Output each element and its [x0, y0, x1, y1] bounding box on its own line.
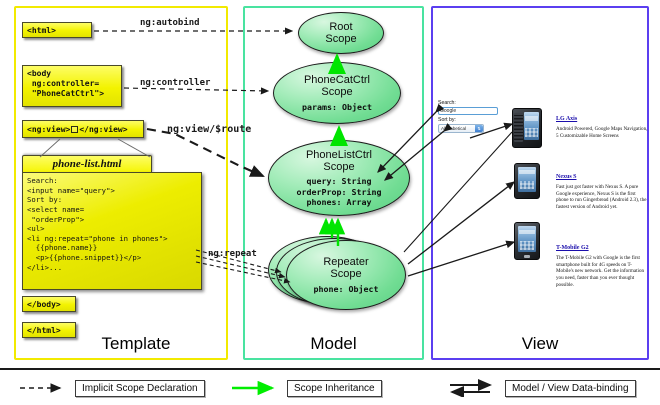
- phonecatctrl-scope-title: PhoneCatCtrl Scope: [304, 74, 370, 99]
- phone-snippet: Fast just got faster with Nexus S. A pur…: [556, 184, 648, 211]
- list-item: T-Mobile G2 The T-Mobile G2 with Google …: [556, 236, 648, 289]
- template-box-body-open: <body ng:controller= "PhoneCatCtrl">: [22, 65, 122, 107]
- phonelistctrl-scope-title: PhoneListCtrl Scope: [306, 149, 372, 174]
- legend: Implicit Scope Declaration Scope Inherit…: [0, 368, 660, 405]
- legend-item-implicit-scope-declaration: Implicit Scope Declaration: [18, 379, 205, 397]
- phone-thumbnail-lg-axis: [512, 108, 542, 148]
- template-box-html-close: </html>: [22, 322, 76, 338]
- search-label: Search:: [438, 100, 500, 107]
- phonecatctrl-scope-props: params: Object: [302, 102, 372, 112]
- phone-thumbnail-nexus-s: [514, 163, 540, 199]
- phonecatctrl-scope: PhoneCatCtrl Scope params: Object: [273, 62, 401, 124]
- template-box-ng-view: <ng:view></ng:view>: [22, 120, 144, 138]
- ng-view-close-tag: </ng:view>: [79, 125, 127, 134]
- ng-view-open-tag: <ng:view>: [27, 125, 70, 134]
- phonelistctrl-scope-props: query: String orderProp: String phones: …: [297, 176, 382, 207]
- template-box-body-close: </body>: [22, 296, 76, 312]
- phonelistctrl-scope: PhoneListCtrl Scope query: String orderP…: [268, 140, 410, 216]
- repeater-scope-stack: Repeater Scope phone: Object: [268, 232, 408, 312]
- double-arrow-icon: [448, 379, 500, 397]
- ng-view-placeholder-icon: [71, 126, 78, 133]
- wire-label-ng-view-route: ng:view/$route: [167, 124, 251, 135]
- callout-title: phone-list.html: [22, 155, 152, 173]
- template-box-html-open: <html>: [22, 22, 92, 38]
- phone-name-link[interactable]: T-Mobile G2: [556, 245, 589, 253]
- legend-label-model-view-data-binding: Model / View Data-binding: [505, 380, 636, 397]
- phone-keyboard-icon: [514, 113, 522, 143]
- chevron-updown-icon: ⇅: [475, 125, 483, 132]
- phone-snippet: Android Powered, Google Maps Navigation,…: [556, 126, 648, 140]
- phone-device-icon: [514, 222, 540, 260]
- root-scope: Root Scope: [298, 12, 384, 54]
- root-scope-title: Root Scope: [325, 21, 356, 46]
- panel-label-model: Model: [245, 334, 422, 354]
- callout-code: Search: <input name="query"> Sort by: <s…: [22, 172, 202, 290]
- green-arrow-icon: [230, 379, 282, 397]
- phone-home-button-icon: [524, 255, 530, 258]
- repeater-scope-title: Repeater Scope: [323, 256, 368, 281]
- legend-item-model-view-data-binding: Model / View Data-binding: [448, 379, 636, 397]
- legend-label-scope-inheritance: Scope Inheritance: [287, 380, 382, 397]
- repeater-scope: Repeater Scope phone: Object: [286, 240, 406, 310]
- panel-label-view: View: [433, 334, 647, 354]
- wire-label-ng-controller: ng:controller: [140, 78, 210, 88]
- phone-screen-icon: [518, 167, 536, 191]
- phone-name-link[interactable]: Nexus S: [556, 174, 577, 182]
- legend-label-implicit-scope-declaration: Implicit Scope Declaration: [75, 380, 205, 397]
- angularjs-architecture-diagram: Template Model View: [0, 0, 660, 405]
- sort-by-select[interactable]: Alphabetical⇅: [438, 124, 484, 133]
- sort-label: Sort by:: [438, 117, 500, 124]
- list-item: LG Axis Android Powered, Google Maps Nav…: [556, 107, 648, 139]
- view-search-form: Search: Google Sort by: Alphabetical⇅: [438, 100, 500, 133]
- wire-label-ng-repeat: ng:repeat: [208, 249, 257, 259]
- phone-device-icon: [514, 163, 540, 199]
- phone-screen-icon: [524, 112, 540, 139]
- phone-name-link[interactable]: LG Axis: [556, 116, 577, 124]
- phone-snippet: The T-Mobile G2 with Google is the first…: [556, 255, 648, 289]
- phone-thumbnail-t-mobile-g2: [514, 222, 540, 260]
- sort-by-value: Alphabetical: [441, 126, 466, 131]
- wire-label-ng-autobind: ng:autobind: [140, 18, 200, 28]
- phone-list-html-callout: phone-list.html Search: <input name="que…: [22, 155, 202, 290]
- repeater-scope-props: phone: Object: [314, 284, 379, 294]
- dashed-arrow-icon: [18, 379, 70, 397]
- list-item: Nexus S Fast just got faster with Nexus …: [556, 165, 648, 211]
- search-input[interactable]: Google: [438, 107, 498, 115]
- phone-device-icon: [512, 108, 542, 148]
- phone-screen-icon: [518, 226, 536, 252]
- legend-item-scope-inheritance: Scope Inheritance: [230, 379, 382, 397]
